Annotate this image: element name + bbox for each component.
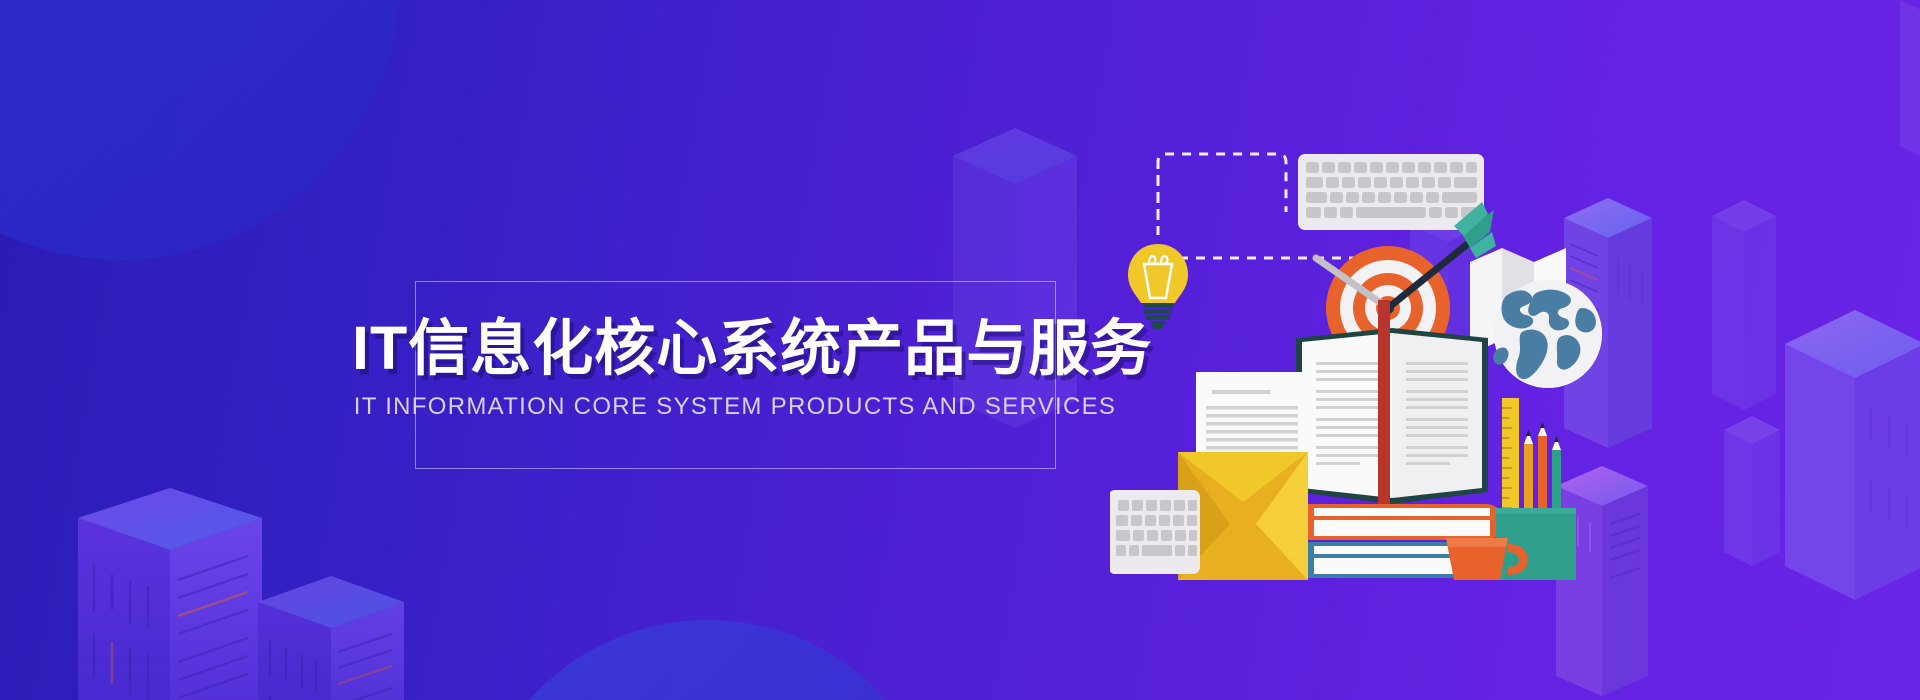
tower-left-short xyxy=(258,576,488,700)
lightbulb-icon xyxy=(1128,244,1188,329)
page-subtitle: IT INFORMATION CORE SYSTEM PRODUCTS AND … xyxy=(352,393,1118,421)
globe-icon xyxy=(1493,280,1602,388)
headline-block: IT信息化核心系统产品与服务 IT INFORMATION CORE SYSTE… xyxy=(352,316,1118,421)
decor-circle-top-left xyxy=(0,0,400,260)
hero-banner: IT信息化核心系统产品与服务 IT INFORMATION CORE SYSTE… xyxy=(0,0,1920,700)
decor-circle-bottom-left xyxy=(468,620,948,700)
pencil-cup-icon xyxy=(1496,398,1576,580)
open-book-icon xyxy=(1296,300,1488,506)
tower-right-f xyxy=(1724,416,1804,566)
keyboard-desk-icon xyxy=(1110,490,1200,574)
keyboard-floating-icon xyxy=(1298,154,1484,230)
page-title: IT信息化核心系统产品与服务 xyxy=(352,316,1118,380)
tower-right-e xyxy=(1785,310,1920,600)
tower-right-edge xyxy=(1900,0,1920,160)
it-services-illustration xyxy=(1110,140,1670,580)
